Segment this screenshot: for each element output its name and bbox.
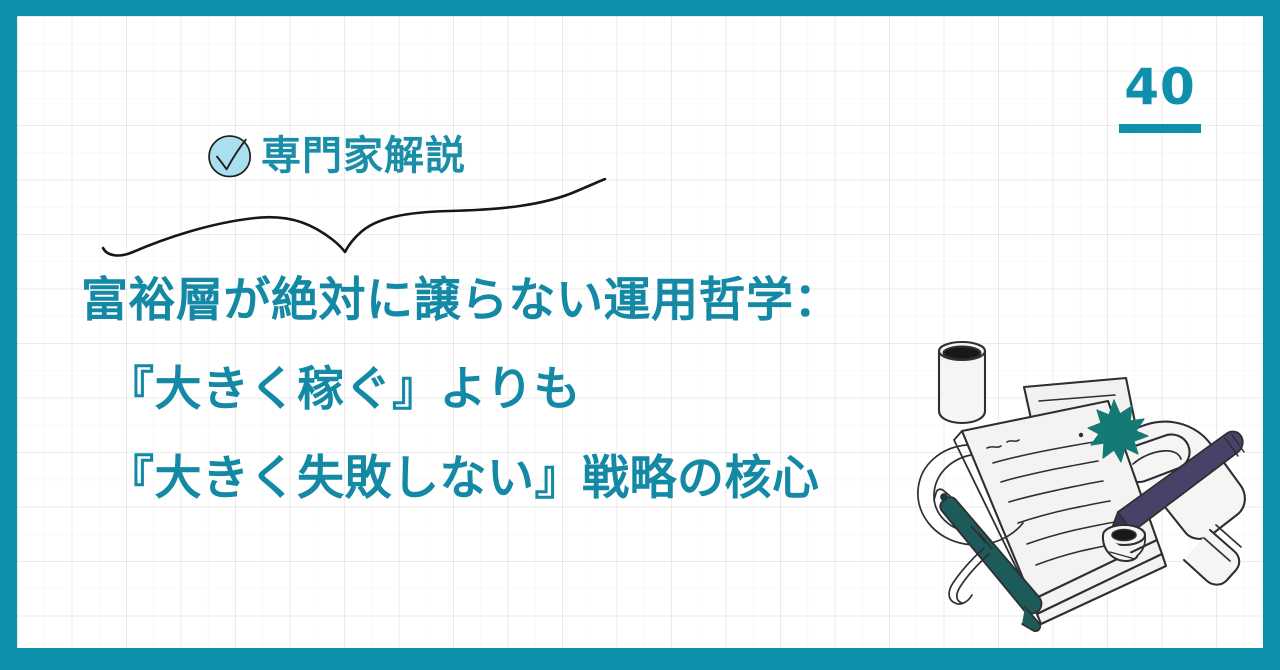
illustration-svg	[889, 318, 1261, 648]
headline: 富裕層が絶対に譲らない運用哲学： 『大きく稼ぐ』よりも 『大きく失敗しない』戦略…	[81, 256, 961, 523]
headline-line-3: 『大きく失敗しない』戦略の核心	[81, 434, 961, 523]
page-number-underline	[1119, 124, 1201, 133]
page-number: 40	[1119, 62, 1201, 112]
headline-line-2: 『大きく稼ぐ』よりも	[81, 345, 961, 434]
check-circle-icon	[199, 128, 259, 188]
page-number-block: 40	[1119, 62, 1201, 133]
headline-line-1: 富裕層が絶対に譲らない運用哲学：	[81, 256, 961, 345]
grid-paper-background: 40 専門家解説 富裕層が絶対に譲らない運用哲	[17, 16, 1263, 648]
badge-label: 専門家解説	[261, 136, 466, 176]
slide-canvas: 40 専門家解説 富裕層が絶対に譲らない運用哲	[0, 0, 1280, 670]
swoosh-underline-icon	[97, 178, 657, 260]
badge-row: 専門家解説	[199, 128, 466, 188]
hand-writing-illustration	[889, 318, 1261, 648]
coffee-cup-icon	[939, 342, 985, 423]
badge-area: 専門家解説	[97, 126, 677, 246]
